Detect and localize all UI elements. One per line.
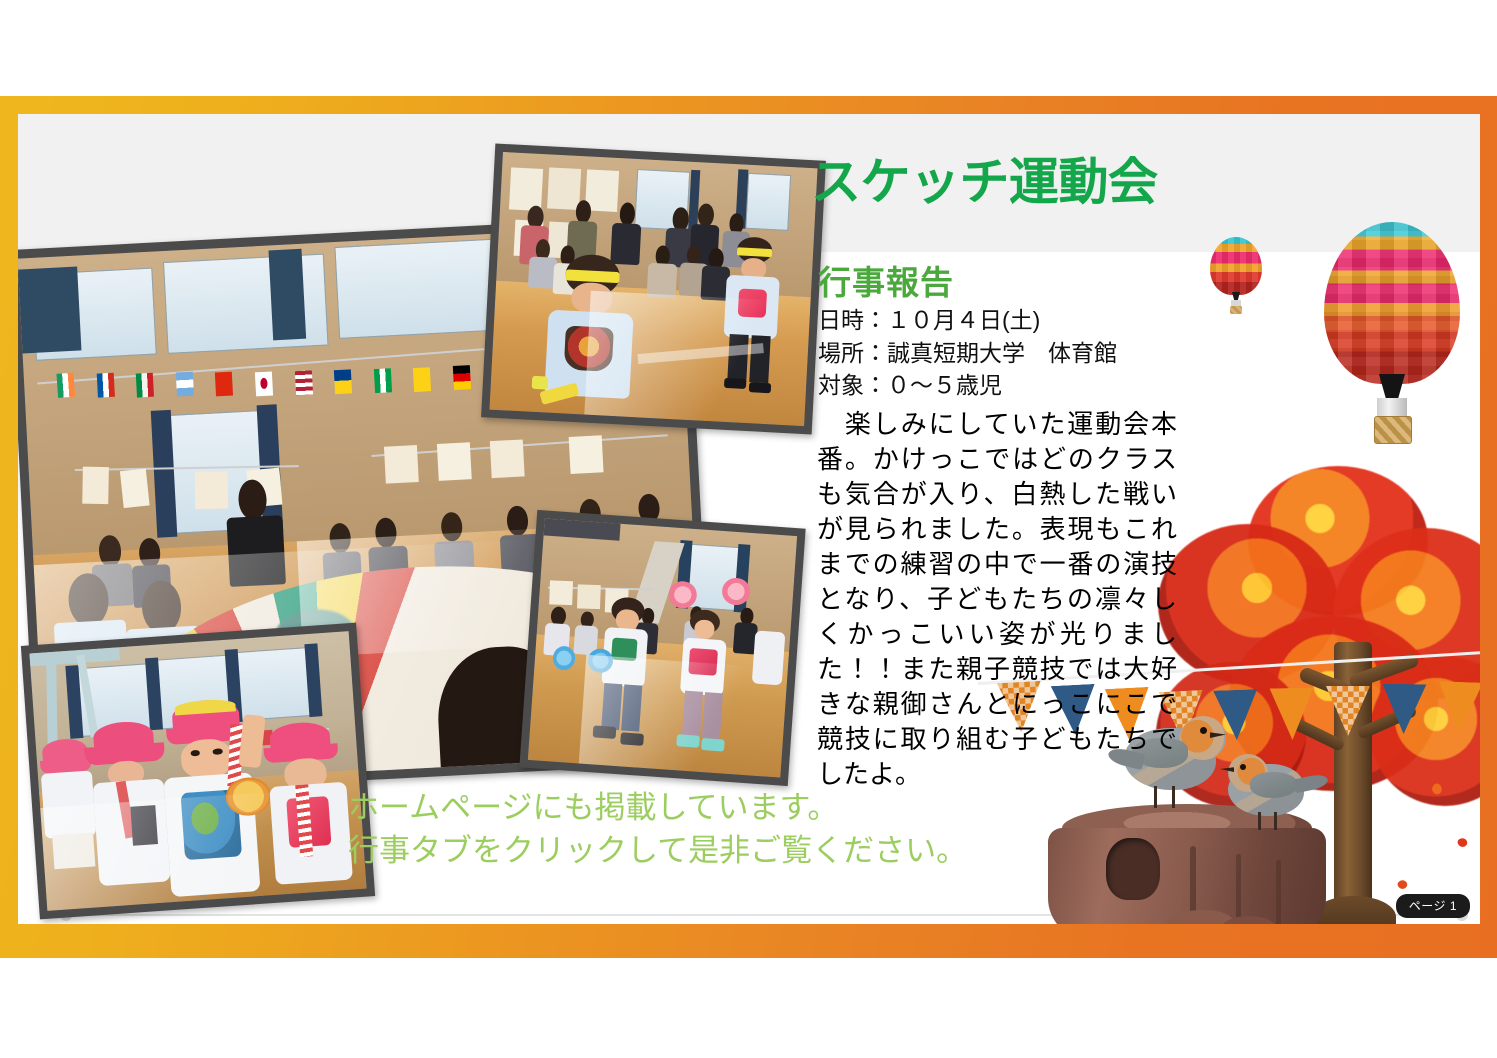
- photo-medal-kids[interactable]: [21, 623, 375, 920]
- photo-running-child-image: [489, 152, 817, 426]
- page-number-badge: ページ 1: [1396, 894, 1470, 918]
- page-title: スケッチ運動会: [811, 157, 1158, 208]
- hot-air-balloon-large-icon: [1324, 222, 1460, 454]
- hot-air-balloon-small-icon: [1210, 237, 1262, 315]
- event-place: 場所：誠真短期大学 体育館: [818, 337, 1117, 370]
- photo-medal-kids-image: [29, 631, 366, 911]
- promo-line-2: 行事タブをクリックして是非ご覧ください。: [348, 829, 967, 872]
- event-details: 日時：１０月４日(土) 場所：誠真短期大学 体育館 対象：０～５歳児: [818, 304, 1117, 402]
- website-promo-note: ホームページにも掲載しています。 行事タブをクリックして是非ご覧ください。: [348, 786, 967, 873]
- slide-canvas: スケッチ運動会 行事報告 日時：１０月４日(土) 場所：誠真短期大学 体育館 対…: [18, 114, 1480, 924]
- photo-pompom-dance[interactable]: [519, 510, 805, 786]
- section-subtitle: 行事報告: [818, 256, 954, 304]
- report-body: 楽しみにしていた運動会本番。かけっこではどのクラスも気合が入り、白熱した戦いが見…: [817, 407, 1177, 792]
- photo-running-child[interactable]: [481, 144, 826, 435]
- promo-line-1: ホームページにも掲載しています。: [348, 786, 967, 829]
- slide-frame: スケッチ運動会 行事報告 日時：１０月４日(土) 場所：誠真短期大学 体育館 対…: [0, 96, 1497, 958]
- event-date: 日時：１０月４日(土): [818, 304, 1117, 337]
- event-target: 対象：０～５歳児: [818, 369, 1117, 402]
- photo-pompom-dance-image: [528, 518, 797, 777]
